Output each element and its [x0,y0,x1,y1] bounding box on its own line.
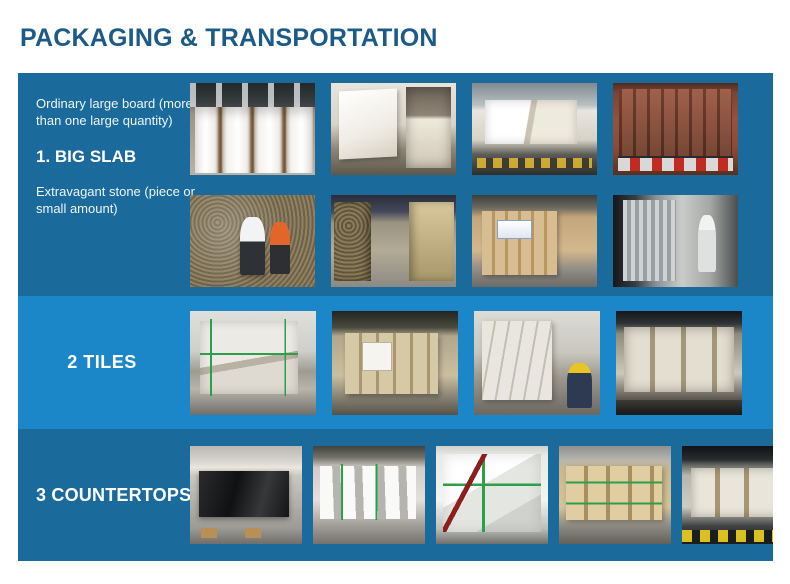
photo-strip-ordinary-large-board [178,73,773,185]
photo-grey-marble-countertops-pallet[interactable] [313,446,425,544]
section-big-slab: Ordinary large board (more than one larg… [18,73,773,296]
photo-strip-countertops [178,429,773,561]
packaging-panel: Ordinary large board (more than one larg… [18,73,773,561]
slide: PACKAGING & TRANSPORTATION Ordinary larg… [0,0,790,584]
photo-workers-inspecting-slab[interactable] [190,195,315,287]
photo-black-granite-countertop[interactable] [190,446,302,544]
label-col-tiles: 2 TILES [18,352,178,373]
photo-wrapped-bundle-green-strap[interactable] [436,446,548,544]
photo-strip-extravagant-stone [178,185,773,296]
photo-wooden-crates-labeled[interactable] [472,195,597,287]
photo-warehouse-wrapped-slab-rolls[interactable] [190,83,315,175]
photo-loading-bay-slabs[interactable] [331,83,456,175]
photo-wooden-crates-strapped[interactable] [559,446,671,544]
photo-strip-tiles [178,296,773,429]
section-countertops: 3 COUNTERTOPS [18,429,773,561]
photo-container-interior-loading[interactable] [613,195,738,287]
row-countertops: 3 COUNTERTOPS [18,429,773,561]
photo-container-loaded-crates[interactable] [682,446,773,544]
row-ordinary-large-board [18,73,773,185]
photo-strapped-tile-bundle[interactable] [190,311,316,415]
section-title-countertops: 3 COUNTERTOPS [36,485,178,506]
photo-loading-tile-crate[interactable] [474,311,600,415]
photo-warehouse-aisle-slabs[interactable] [331,195,456,287]
section-tiles: 2 TILES [18,296,773,429]
photo-crated-tile-pallet[interactable] [332,311,458,415]
label-col-countertops: 3 COUNTERTOPS [18,485,178,506]
row-extravagant-stone [18,185,773,296]
photo-container-packed-tiles[interactable] [616,311,742,415]
photo-truck-bed-slabs[interactable] [472,83,597,175]
section-title-tiles: 2 TILES [36,352,178,373]
photo-red-container-rear-doors[interactable] [613,83,738,175]
row-tiles: 2 TILES [18,296,773,429]
page-title: PACKAGING & TRANSPORTATION [20,24,438,53]
